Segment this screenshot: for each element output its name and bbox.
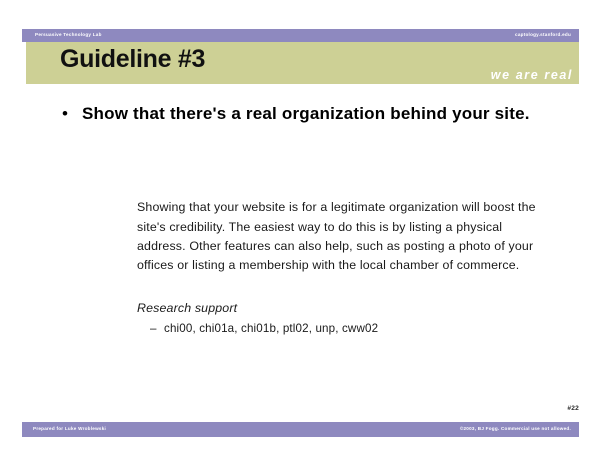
presentation-slide: Persuasive Technology Lab captology.stan… xyxy=(0,0,600,463)
page-title: Guideline #3 xyxy=(60,45,205,74)
title-block: Guideline #3 we are real xyxy=(26,42,579,84)
footer-copyright: ©2003, BJ Fogg. Commercial use not allow… xyxy=(460,426,571,432)
body-paragraph: Showing that your website is for a legit… xyxy=(137,198,549,275)
main-bullet: • Show that there's a real organization … xyxy=(62,101,554,127)
header-site-url: captology.stanford.edu xyxy=(515,32,571,38)
bullet-marker-icon: • xyxy=(62,101,82,127)
main-bullet-text: Show that there's a real organization be… xyxy=(82,101,554,127)
footer-prepared-for: Prepared for Luke Wroblewski xyxy=(33,426,106,432)
header-lab-name: Persuasive Technology Lab xyxy=(35,32,102,38)
header-band: Persuasive Technology Lab captology.stan… xyxy=(22,29,579,42)
research-support-heading: Research support xyxy=(137,301,237,315)
dash-marker-icon: – xyxy=(150,322,164,335)
slide-page-number: #22 xyxy=(567,405,579,412)
reference-list-item: – chi00, chi01a, chi01b, ptl02, unp, cww… xyxy=(150,322,550,335)
slide-tagline: we are real xyxy=(491,68,573,82)
reference-citations: chi00, chi01a, chi01b, ptl02, unp, cww02 xyxy=(164,322,550,335)
footer-band: Prepared for Luke Wroblewski ©2003, BJ F… xyxy=(22,422,579,437)
